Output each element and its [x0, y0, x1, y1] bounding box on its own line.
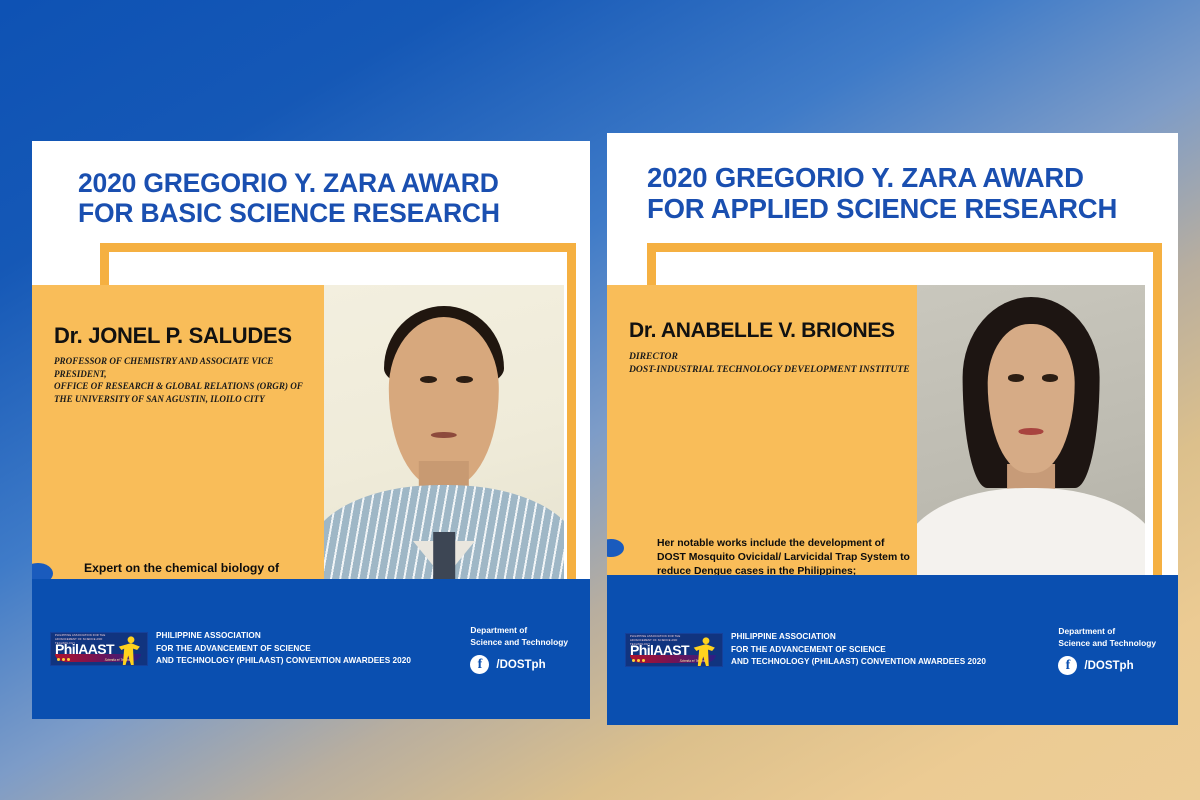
department-line: Department of	[470, 624, 568, 636]
association-line: AND TECHNOLOGY (PhilAAST) CONVENTION AWA…	[731, 656, 986, 668]
association-line: PHILIPPINE ASSOCIATION	[156, 630, 411, 642]
footer-branding-left: PHILIPPINE ASSOCIATION FOR THE ADVANCEME…	[32, 630, 411, 667]
philaast-logo-icon: PHILIPPINE ASSOCIATION FOR THE ADVANCEME…	[625, 633, 723, 667]
philaast-logo-icon: PHILIPPINE ASSOCIATION FOR THE ADVANCEME…	[50, 632, 148, 666]
person-name-right: Dr. ANABELLE V. BRIONES	[607, 285, 917, 343]
bullet-dot-icon	[607, 539, 624, 557]
info-panel-left: Dr. JONEL P. SALUDES PROFESSOR OF CHEMIS…	[32, 285, 324, 579]
facebook-handle[interactable]: /DOSTph	[496, 659, 545, 671]
person-meta-left: PROFESSOR OF CHEMISTRY AND ASSOCIATE VIC…	[32, 349, 324, 405]
award-title-right: 2020 GREGORIO Y. ZARA AWARD FOR APPLIED …	[607, 133, 1178, 224]
star-person-icon	[117, 635, 145, 665]
person-meta-line: DOST-INDUSTRIAL TECHNOLOGY DEVELOPMENT I…	[629, 363, 911, 376]
award-title-line1: 2020 GREGORIO Y. ZARA AWARD	[647, 162, 1084, 193]
list-item: Her notable works include the developmen…	[607, 537, 911, 579]
award-card-applied-science: 2020 GREGORIO Y. ZARA AWARD FOR APPLIED …	[607, 133, 1178, 725]
info-panel-right: Dr. ANABELLE V. BRIONES DIRECTOR DOST-IN…	[607, 285, 917, 583]
card-header-right: 2020 GREGORIO Y. ZARA AWARD FOR APPLIED …	[607, 133, 1178, 224]
footer-dost-right: Department of Science and Technology f /…	[1058, 625, 1178, 675]
portrait-photo-left	[324, 285, 564, 579]
star-person-icon	[692, 636, 720, 666]
footer-dost-left: Department of Science and Technology f /…	[470, 624, 590, 674]
card-header-left: 2020 GREGORIO Y. ZARA AWARD FOR BASIC SC…	[32, 141, 590, 229]
poster-canvas: 2020 GREGORIO Y. ZARA AWARD FOR BASIC SC…	[0, 0, 1200, 800]
card-footer-left: PHILIPPINE ASSOCIATION FOR THE ADVANCEME…	[32, 579, 590, 719]
department-line: Science and Technology	[470, 636, 568, 648]
association-line: FOR THE ADVANCEMENT OF SCIENCE	[731, 644, 986, 656]
facebook-icon[interactable]: f	[470, 655, 489, 674]
philaast-logo-dots-icon	[57, 658, 70, 661]
facebook-handle[interactable]: /DOSTph	[1084, 660, 1133, 672]
facebook-link[interactable]: f /DOSTph	[1058, 656, 1156, 675]
facebook-link[interactable]: f /DOSTph	[470, 655, 568, 674]
person-meta-line: OFFICE OF RESEARCH & GLOBAL RELATIONS (O…	[54, 380, 314, 393]
department-text: Department of Science and Technology	[470, 624, 568, 648]
person-meta-line: THE UNIVERSITY OF SAN AGUSTIN, ILOILO CI…	[54, 393, 314, 406]
person-meta-line: PROFESSOR OF CHEMISTRY AND ASSOCIATE VIC…	[54, 355, 314, 380]
association-line: AND TECHNOLOGY (PhilAAST) CONVENTION AWA…	[156, 655, 411, 667]
footer-branding-right: PHILIPPINE ASSOCIATION FOR THE ADVANCEME…	[607, 631, 986, 668]
award-card-basic-science: 2020 GREGORIO Y. ZARA AWARD FOR BASIC SC…	[32, 141, 590, 719]
department-line: Science and Technology	[1058, 637, 1156, 649]
department-text: Department of Science and Technology	[1058, 625, 1156, 649]
department-line: Department of	[1058, 625, 1156, 637]
card-footer-right: PHILIPPINE ASSOCIATION FOR THE ADVANCEME…	[607, 575, 1178, 725]
association-line: FOR THE ADVANCEMENT OF SCIENCE	[156, 643, 411, 655]
award-title-left: 2020 GREGORIO Y. ZARA AWARD FOR BASIC SC…	[32, 141, 590, 229]
facebook-icon[interactable]: f	[1058, 656, 1077, 675]
person-meta-line: DIRECTOR	[629, 350, 911, 363]
award-title-line1: 2020 GREGORIO Y. ZARA AWARD	[78, 168, 499, 198]
person-name-left: Dr. JONEL P. SALUDES	[32, 285, 324, 349]
association-text-left: PHILIPPINE ASSOCIATION FOR THE ADVANCEME…	[156, 630, 411, 667]
person-meta-right: DIRECTOR DOST-INDUSTRIAL TECHNOLOGY DEVE…	[607, 343, 917, 376]
philaast-logo-dots-icon	[632, 659, 645, 662]
achievement-text: Her notable works include the developmen…	[657, 537, 911, 579]
association-line: PHILIPPINE ASSOCIATION	[731, 631, 986, 643]
association-text-right: PHILIPPINE ASSOCIATION FOR THE ADVANCEME…	[731, 631, 986, 668]
portrait-photo-right	[917, 285, 1145, 583]
award-title-line2: FOR BASIC SCIENCE RESEARCH	[78, 199, 590, 229]
award-title-line2: FOR APPLIED SCIENCE RESEARCH	[647, 193, 1178, 224]
